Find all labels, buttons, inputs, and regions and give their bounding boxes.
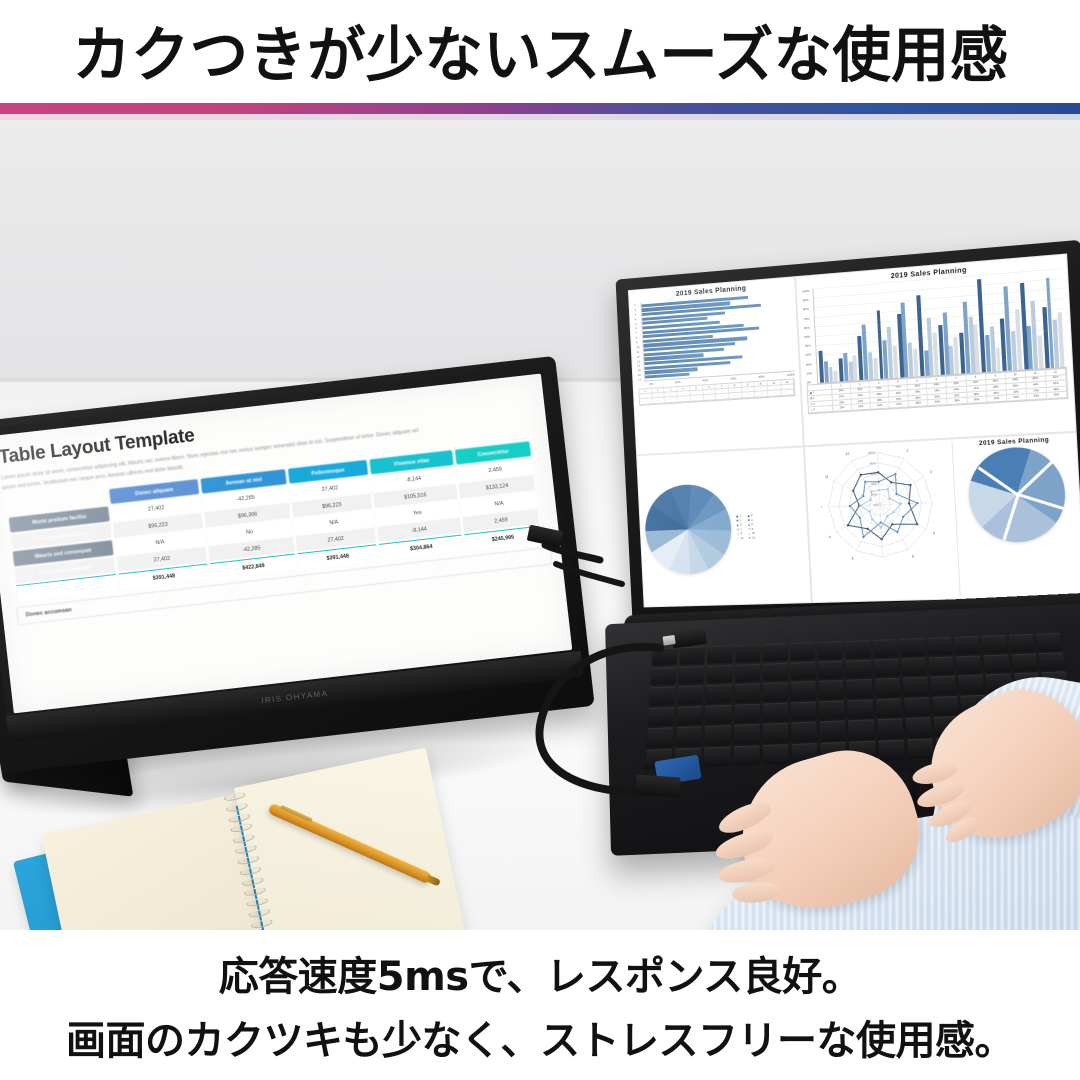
usb-cable-top2 bbox=[556, 564, 622, 584]
spiral-coil bbox=[234, 844, 257, 855]
spiral-coil bbox=[232, 833, 255, 844]
footer-line-1: 応答速度5msで、レスポンス良好。 bbox=[219, 944, 861, 1002]
spiral-coil bbox=[239, 865, 262, 876]
spiral-coil bbox=[228, 812, 251, 823]
usb-plug-front bbox=[635, 774, 680, 797]
spiral-coil bbox=[223, 791, 246, 802]
usb-plug-tip bbox=[663, 635, 676, 646]
footer-line-2: 画面のカクツキも少なく、ストレスフリーな使用感。 bbox=[66, 1008, 1014, 1066]
spiral-coil bbox=[225, 802, 248, 813]
spiral-coil bbox=[237, 854, 260, 865]
product-marketing-image: カクつきが少ないスムーズな使用感 Table Layout Template L… bbox=[0, 0, 1080, 1080]
product-photo: Table Layout Template Lorem ipsum dolor … bbox=[0, 120, 1080, 930]
spiral-coil bbox=[244, 886, 267, 897]
usb-cable-loop bbox=[539, 647, 660, 792]
gradient-divider bbox=[0, 103, 1080, 114]
usb-cable-top bbox=[545, 545, 600, 560]
spiral-coil bbox=[241, 876, 264, 887]
header-banner: カクつきが少ないスムーズな使用感 bbox=[0, 0, 1080, 100]
spiral-coil bbox=[246, 897, 269, 908]
spiral-coil bbox=[250, 918, 273, 929]
spiral-coil bbox=[248, 907, 271, 918]
spiral-coil bbox=[230, 823, 253, 834]
page-title: カクつきが少ないスムーズな使用感 bbox=[72, 7, 1008, 94]
footer-caption: 応答速度5msで、レスポンス良好。 画面のカクツキも少なく、ストレスフリーな使用… bbox=[0, 930, 1080, 1080]
